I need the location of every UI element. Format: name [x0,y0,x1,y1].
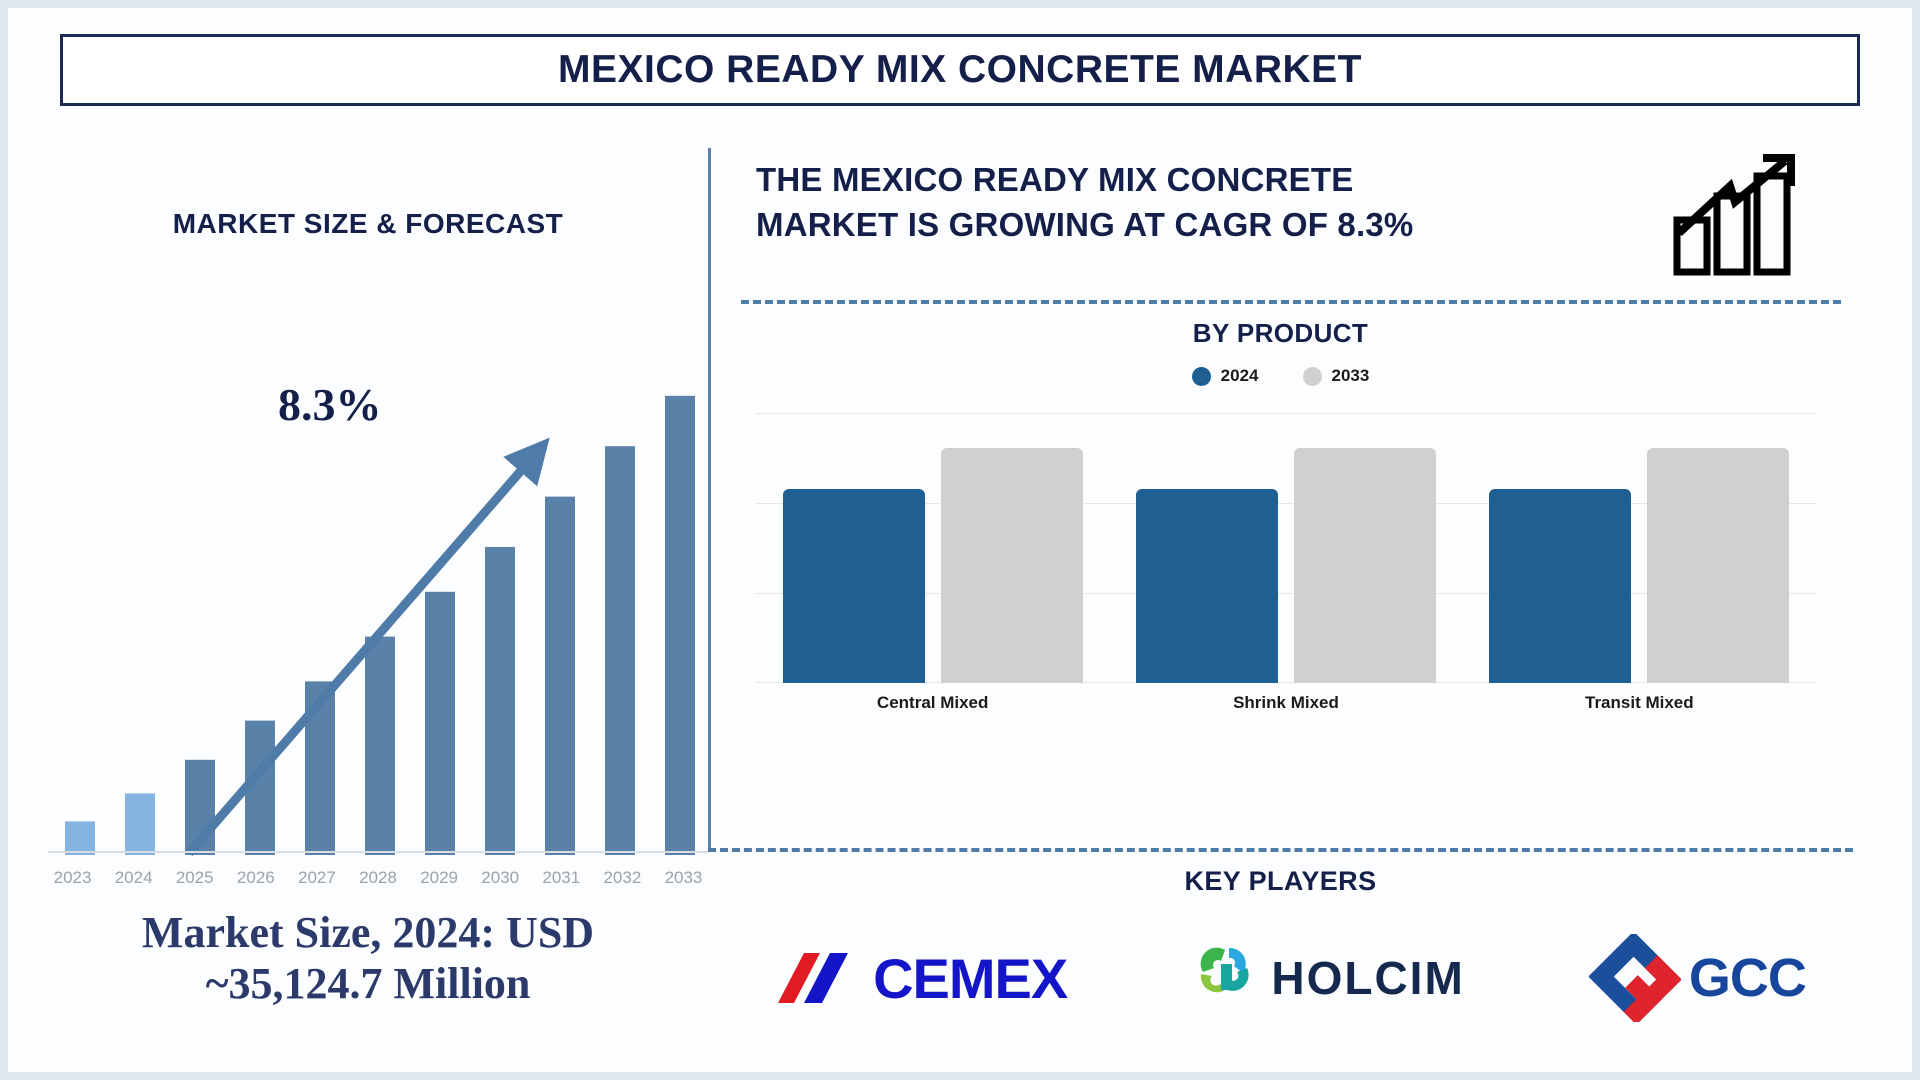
year-label: 2031 [531,868,592,888]
product-category-label: Transit Mixed [1463,693,1816,713]
holcim-wordmark: HOLCIM [1271,951,1464,1005]
year-label: 2029 [409,868,470,888]
product-category-label: Central Mixed [756,693,1109,713]
product-bar [1136,489,1278,683]
year-label: 2030 [470,868,531,888]
cagr-headline-line-2: MARKET IS GROWING AT CAGR OF 8.3% [756,203,1656,248]
by-product-chart [756,413,1816,683]
divider-dashed-top [741,300,1841,304]
cagr-headline: THE MEXICO READY MIX CONCRETE MARKET IS … [756,158,1656,247]
year-label: 2028 [347,868,408,888]
growth-chart-icon [1673,148,1808,278]
infographic-frame: MEXICO READY MIX CONCRETE MARKET MARKET … [8,8,1912,1072]
page-title: MEXICO READY MIX CONCRETE MARKET [558,48,1362,92]
market-size-line-1: Market Size, 2024: USD [28,908,708,959]
growth-arrow [189,458,532,853]
product-bar [941,448,1083,683]
forecast-bar [605,446,635,855]
year-label: 2033 [653,868,714,888]
title-box: MEXICO READY MIX CONCRETE MARKET [60,34,1860,106]
product-bar-group [756,413,1109,683]
product-bar-group [1109,413,1462,683]
product-category-label: Shrink Mixed [1109,693,1462,713]
by-product-category-axis: Central MixedShrink MixedTransit Mixed [756,693,1816,713]
product-bar [783,489,925,683]
market-size-heading: MARKET SIZE & FORECAST [28,208,708,240]
year-label: 2025 [164,868,225,888]
chart-baseline [48,851,708,853]
details-panel: THE MEXICO READY MIX CONCRETE MARKET IS … [708,128,1898,1068]
forecast-bar [485,547,515,855]
product-bar [1294,448,1436,683]
year-label: 2032 [592,868,653,888]
logo-cemex[interactable]: CEMEX [770,945,1067,1011]
key-players-logos: CEMEX HOLCIM [708,918,1868,1038]
gcc-wordmark: GCC [1689,947,1806,1009]
logo-holcim[interactable]: HOLCIM [1191,942,1464,1014]
legend-label: 2033 [1332,366,1370,386]
gcc-mark-icon [1589,934,1681,1022]
legend-dot-icon [1303,367,1322,386]
cagr-headline-line-1: THE MEXICO READY MIX CONCRETE [756,158,1656,203]
market-size-line-2: ~35,124.7 Million [28,959,708,1010]
by-product-title: BY PRODUCT [708,318,1853,349]
by-product-legend: 20242033 [708,366,1853,386]
forecast-bar [425,592,455,855]
forecast-bar [125,793,155,855]
market-size-panel: MARKET SIZE & FORECAST 8.3% 202320242025… [28,128,708,1048]
legend-item: 2024 [1192,366,1259,386]
logo-gcc[interactable]: GCC [1589,934,1806,1022]
year-axis: 2023202420252026202720282029203020312032… [42,868,714,888]
legend-item: 2033 [1303,366,1370,386]
year-label: 2023 [42,868,103,888]
divider-dashed-bottom [708,848,1853,852]
forecast-bar [545,497,575,855]
year-label: 2026 [225,868,286,888]
legend-label: 2024 [1221,366,1259,386]
year-label: 2024 [103,868,164,888]
product-bar [1489,489,1631,683]
forecast-bar [65,821,95,855]
year-label: 2027 [286,868,347,888]
key-players-title: KEY PLAYERS [708,866,1853,897]
forecast-bar [665,396,695,855]
market-size-value: Market Size, 2024: USD ~35,124.7 Million [28,908,708,1009]
cemex-wordmark: CEMEX [873,946,1067,1011]
holcim-mark-icon [1191,942,1263,1014]
product-bar-group [1463,413,1816,683]
product-bar [1647,448,1789,683]
forecast-bar [365,637,395,855]
legend-dot-icon [1192,367,1211,386]
cemex-mark-icon [770,945,865,1011]
